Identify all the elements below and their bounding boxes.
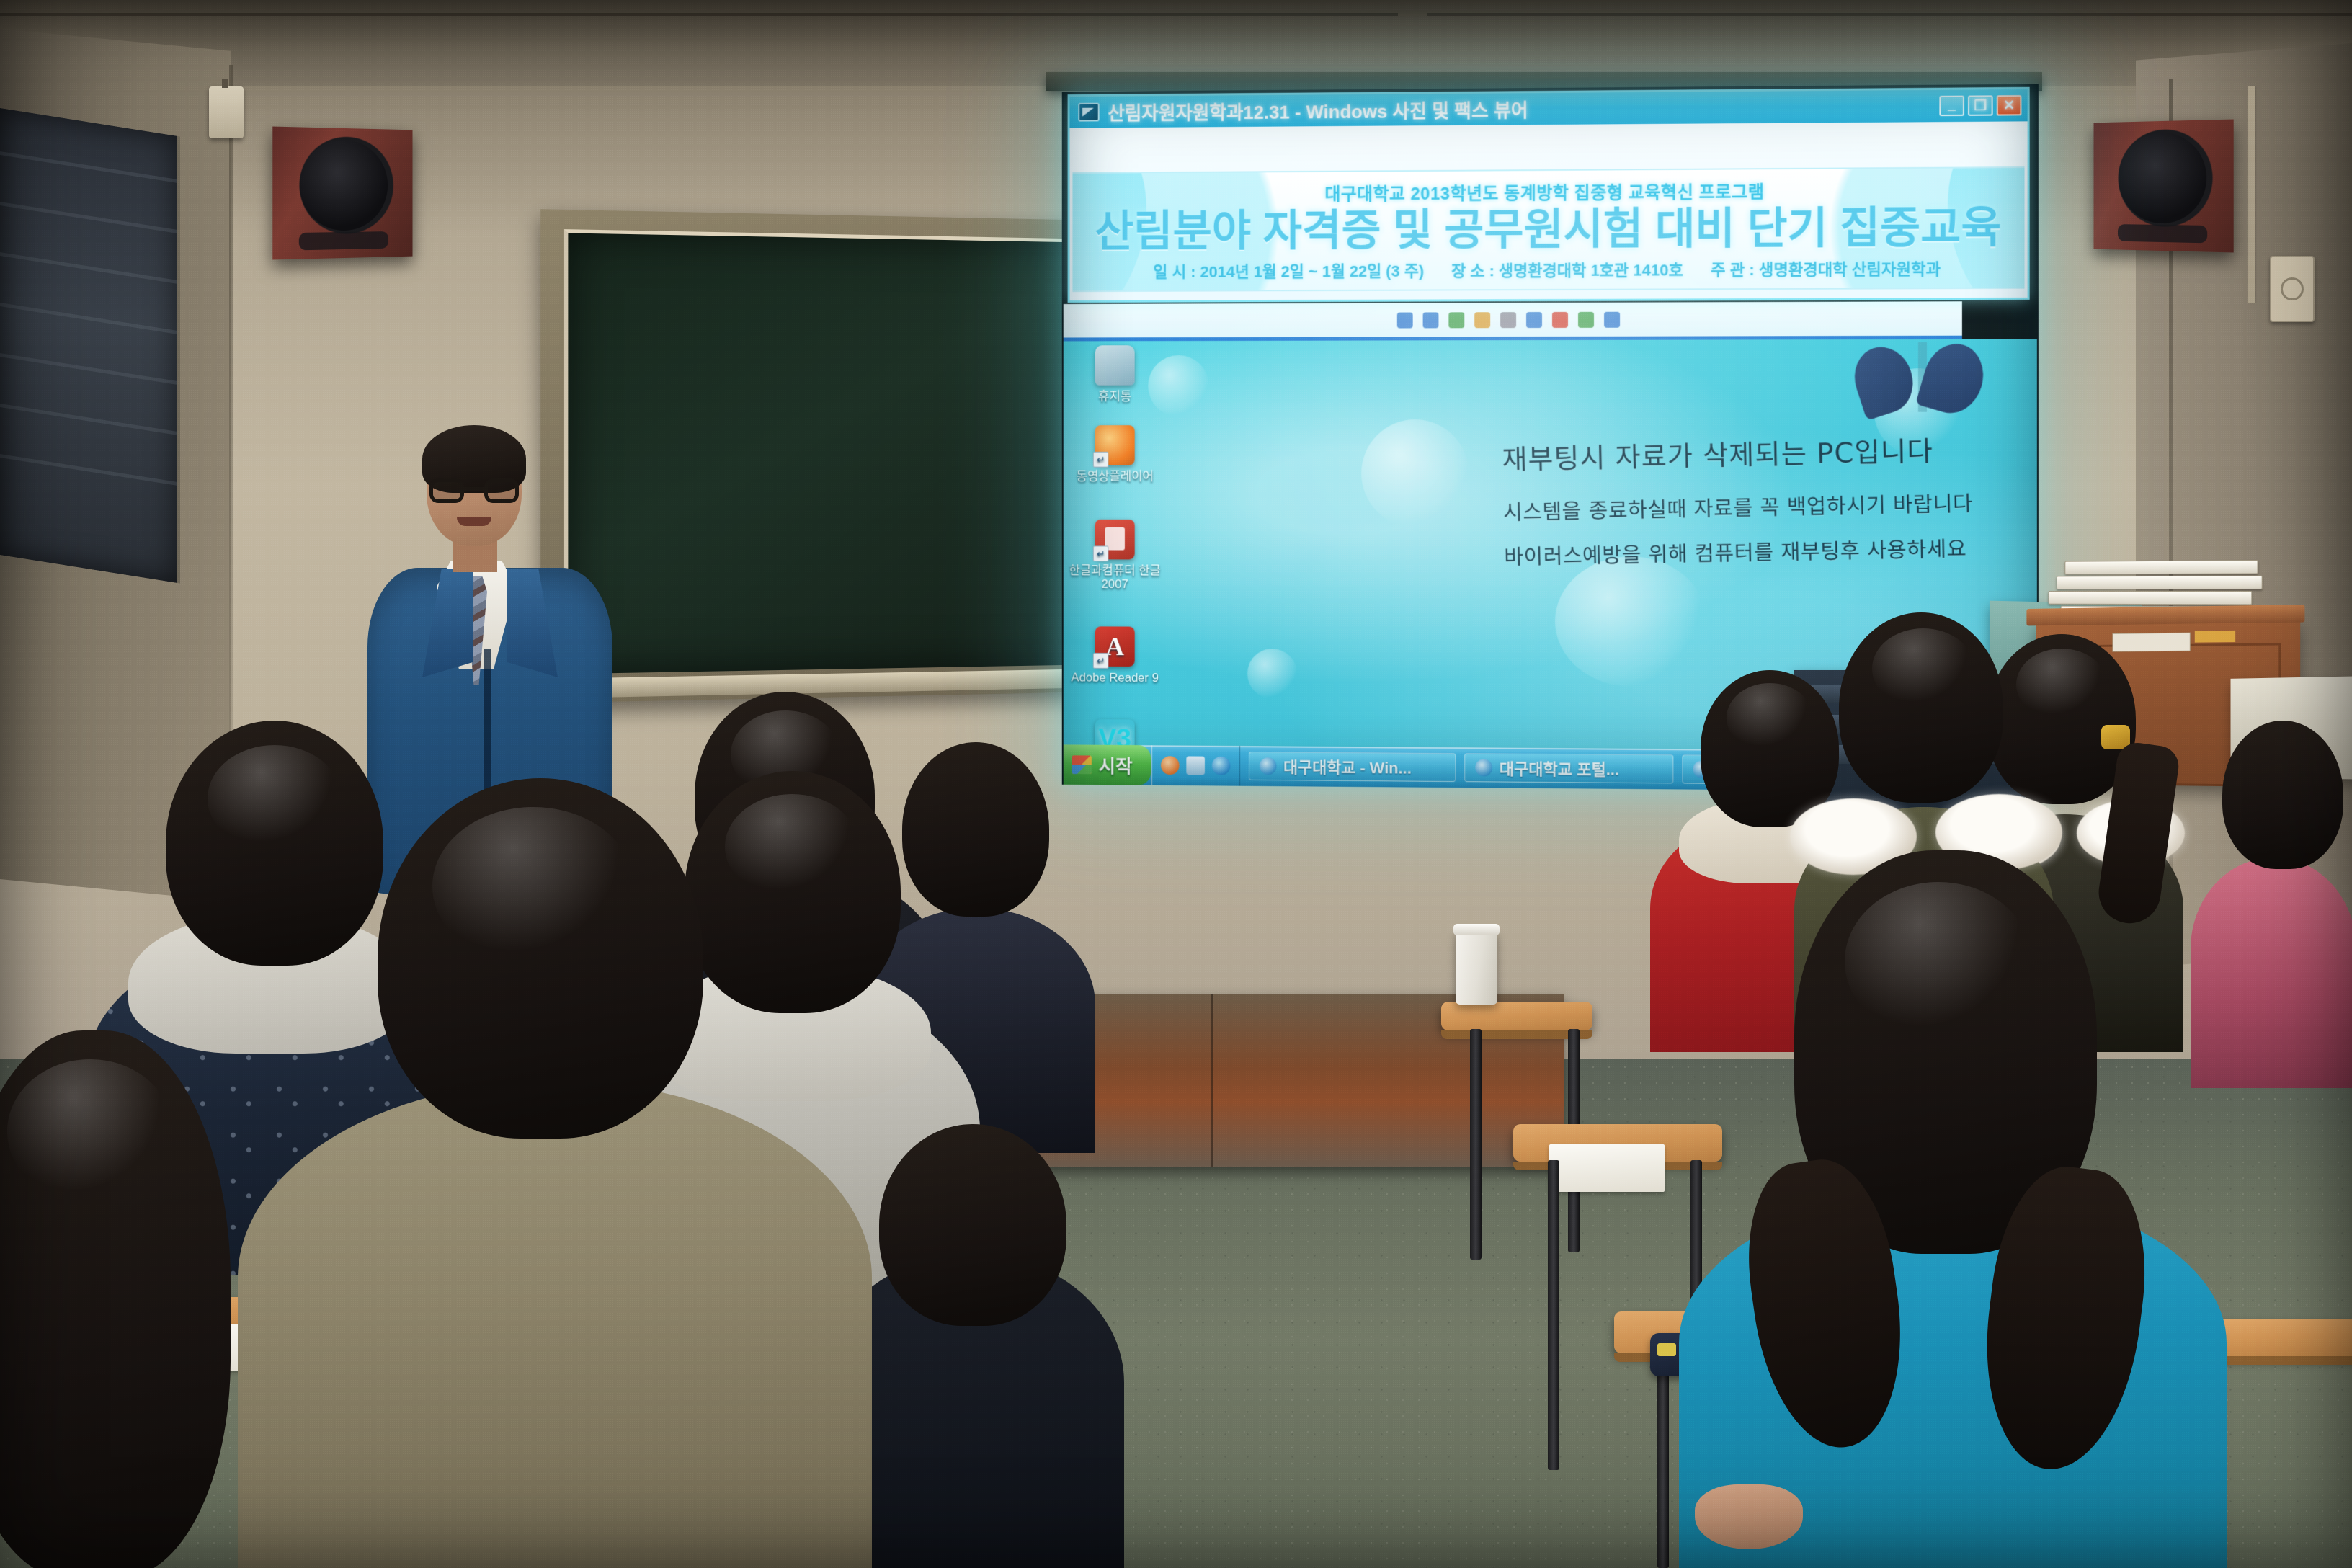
- air-conditioner-vent: [0, 108, 180, 584]
- hangul-word-icon: [1095, 520, 1135, 560]
- student-teal-sweater: [1679, 850, 2227, 1568]
- banner-kicker: 대구대학교 2013학년도 동계방학 집중형 교육혁신 프로그램: [1324, 177, 1764, 205]
- chalkboard: [540, 209, 1102, 703]
- toolbar-icon: [1474, 312, 1490, 328]
- toolbar-icon: [1578, 311, 1594, 327]
- internet-explorer-icon: [1260, 757, 1277, 775]
- glasses-icon: [429, 478, 519, 503]
- minimize-button[interactable]: _: [1939, 96, 1964, 117]
- desktop-icon-recycle-bin[interactable]: 휴지통: [1069, 345, 1161, 403]
- podium-sticker: [2195, 631, 2235, 643]
- desktop-icon-media-player[interactable]: 동영상플레이어: [1069, 425, 1161, 483]
- desktop-icon-label: Adobe Reader 9: [1069, 671, 1161, 685]
- wallpaper-notice: 재부팅시 자료가 삭제되는 PC입니다 시스템을 종료하실때 자료를 꼭 백업하…: [1502, 427, 2013, 586]
- taskbar-button-portal[interactable]: 대구대학교 포털...: [1464, 753, 1673, 783]
- taskbar-button-label: 대구대학교 - Win...: [1283, 754, 1412, 778]
- banner-meta-date: 일 시 : 2014년 1월 2일 ~ 1월 22일 (3 주): [1154, 262, 1425, 281]
- instructor-mouth: [457, 517, 491, 526]
- internet-explorer-icon[interactable]: [1212, 757, 1231, 775]
- toolbar-icon: [1552, 311, 1568, 327]
- toolbar-icon: [1604, 311, 1620, 327]
- toolbar-icon: [1423, 312, 1439, 328]
- media-player-icon[interactable]: [1161, 756, 1180, 775]
- wall-sensor-box: [209, 86, 244, 138]
- banner-title: 산림분야 자격증 및 공무원시험 대비 단기 집중교육: [1095, 204, 2001, 254]
- toolbar-icon: [1397, 312, 1413, 328]
- wall-speaker-left: [272, 127, 412, 260]
- recycle-bin-icon: [1095, 345, 1135, 386]
- banner-meta: 일 시 : 2014년 1월 2일 ~ 1월 22일 (3 주) 장 소 : 생…: [1142, 257, 1953, 282]
- maximize-button[interactable]: ❐: [1968, 95, 1993, 116]
- desktop-icon-label: 한글과컴퓨터 한글 2007: [1069, 563, 1161, 591]
- photo-fax-viewer-window[interactable]: 산림자원자원학과12.31 - Windows 사진 및 팩스 뷰어 _ ❐ ✕…: [1068, 87, 2030, 303]
- tumbler-cup[interactable]: [1456, 930, 1497, 1004]
- wall-outlet[interactable]: [2270, 256, 2315, 322]
- quick-launch-bar: [1151, 745, 1240, 785]
- viewer-image-area: 대구대학교 2013학년도 동계방학 집중형 교육혁신 프로그램 산림분야 자격…: [1070, 121, 2028, 300]
- student-long-hair-left: [0, 1030, 274, 1568]
- background-browser-window[interactable]: [1064, 301, 1962, 341]
- photo-fax-viewer-icon: [1078, 103, 1099, 122]
- mail-icon[interactable]: [1186, 756, 1205, 775]
- desktop-icon-label: 동영상플레이어: [1069, 470, 1161, 484]
- desktop-icon-adobe-reader[interactable]: Adobe Reader 9: [1069, 626, 1161, 685]
- classroom-photo-scene: 휴지통 동영상플레이어 한글과컴퓨터 한글 2007 Adobe Reader …: [0, 0, 2352, 1568]
- banner-meta-place: 장 소 : 생명환경대학 1호관 1410호: [1451, 262, 1683, 280]
- notebook-papers: [1549, 1144, 1665, 1192]
- start-button-label: 시작: [1099, 752, 1133, 778]
- toolbar-icon: [1448, 312, 1464, 328]
- toolbar-icon: [1500, 312, 1516, 328]
- wall-conduit: [2248, 86, 2255, 303]
- internet-explorer-icon: [1475, 759, 1492, 776]
- student-desk: [1441, 1002, 1592, 1030]
- media-player-icon: [1095, 425, 1135, 465]
- close-icon[interactable]: ✕: [1997, 95, 2022, 116]
- wallpaper-notice-line-3: 바이러스예방을 위해 컴퓨터를 재부팅후 사용하세요: [1504, 531, 2013, 571]
- chalkboard-surface: [564, 229, 1090, 674]
- student-khaki-jacket: [238, 778, 872, 1568]
- seminar-banner: 대구대학교 2013학년도 동계방학 집중형 교육혁신 프로그램 산림분야 자격…: [1072, 166, 2024, 292]
- window-title: 산림자원자원학과12.31 - Windows 사진 및 팩스 뷰어: [1108, 92, 1930, 125]
- taskbar-button-label: 대구대학교 포털...: [1500, 757, 1619, 780]
- wallpaper-notice-line-1: 재부팅시 자료가 삭제되는 PC입니다: [1502, 427, 2011, 478]
- desktop-icon-label: 휴지통: [1069, 390, 1161, 404]
- desktop-icon-hangul[interactable]: 한글과컴퓨터 한글 2007: [1069, 520, 1161, 591]
- taskbar-button-daegu-univ[interactable]: 대구대학교 - Win...: [1249, 752, 1456, 782]
- window-controls: _ ❐ ✕: [1939, 95, 2021, 116]
- wallpaper-notice-line-2: 시스템을 종료하실때 자료를 꼭 백업하시기 바랍니다: [1503, 486, 2013, 526]
- student-hand: [1695, 1484, 1803, 1549]
- wall-speaker-right: [2094, 120, 2234, 253]
- toolbar-icon: [1526, 312, 1542, 328]
- banner-meta-host: 주 관 : 생명환경대학 산림자원학과: [1711, 260, 1941, 279]
- adobe-reader-icon: [1095, 626, 1135, 667]
